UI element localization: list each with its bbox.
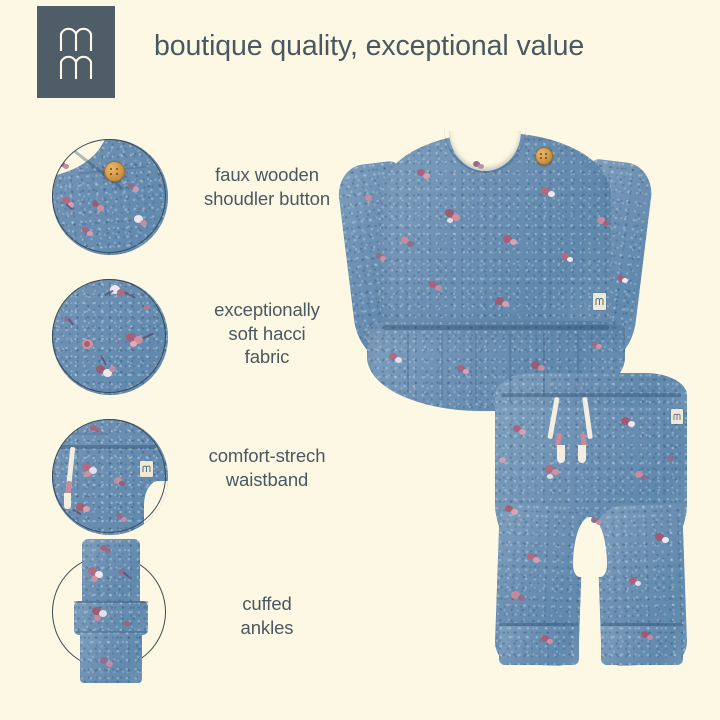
thumbnail-shoulder-button	[52, 139, 168, 255]
feature-line-2: shoudler button	[178, 187, 356, 211]
feature-line-1: cuffed	[178, 592, 356, 616]
peplum-seam	[383, 325, 609, 330]
thumbnail-cuffed-ankles	[52, 555, 168, 671]
logo-letter-m-top	[59, 24, 93, 52]
ankle-cuff-left	[499, 623, 579, 665]
logo-letter-m-bottom	[59, 52, 93, 80]
page-title: boutique quality, exceptional value	[154, 30, 694, 63]
page-header: boutique quality, exceptional value	[0, 0, 720, 115]
feature-line-1: faux wooden	[178, 163, 356, 187]
feature-label-hacci-fabric: exceptionally soft hacci fabric	[178, 298, 356, 369]
brand-tag	[140, 461, 153, 477]
feature-line-1: exceptionally	[178, 298, 356, 322]
feature-item-hacci-fabric: exceptionally soft hacci fabric	[0, 276, 360, 416]
feature-list: faux wooden shoudler button	[0, 128, 360, 698]
product-photo	[345, 125, 720, 685]
thumbnail-hacci-fabric	[52, 279, 168, 395]
feature-line-2: soft hacci	[178, 322, 356, 346]
brand-logo	[37, 6, 115, 98]
thumbnail-waistband	[52, 419, 168, 535]
brand-tag-top	[593, 293, 606, 310]
feature-item-waistband: comfort-strech waistband	[0, 416, 360, 556]
shoulder-button	[535, 147, 553, 165]
feature-line-2: ankles	[178, 616, 356, 640]
feature-label-waistband: comfort-strech waistband	[178, 444, 356, 491]
wooden-button-closeup	[104, 161, 125, 182]
feature-label-shoulder-button: faux wooden shoudler button	[178, 163, 356, 210]
feature-item-cuffed-ankles: cuffed ankles	[0, 552, 360, 692]
ankle-cuff-right	[601, 623, 683, 665]
feature-line-3: fabric	[178, 345, 356, 369]
waistband-seam	[501, 393, 681, 397]
feature-label-cuffed-ankles: cuffed ankles	[178, 592, 356, 639]
feature-line-2: waistband	[178, 468, 356, 492]
brand-tag-pants	[671, 409, 683, 424]
feature-item-shoulder-button: faux wooden shoudler button	[0, 136, 360, 276]
feature-line-1: comfort-strech	[178, 444, 356, 468]
